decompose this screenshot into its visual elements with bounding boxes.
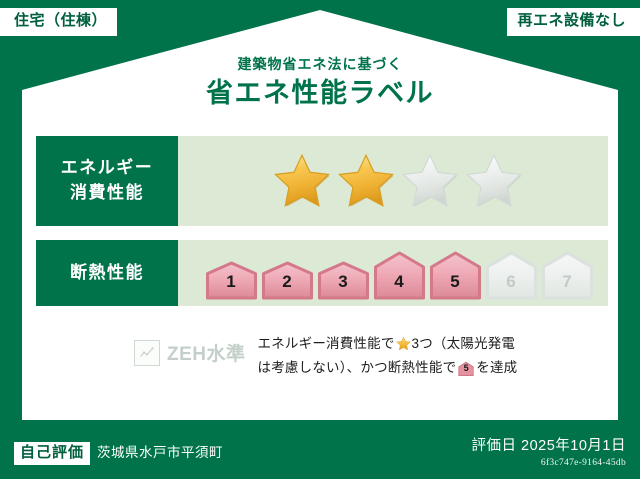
self-evaluation-chip: 自己評価 xyxy=(14,442,90,466)
star-icon-empty xyxy=(463,151,525,211)
house-shape-icon xyxy=(485,250,538,300)
insulation-level-2: 2 xyxy=(261,260,314,300)
star-icon-filled xyxy=(271,151,333,211)
label-id: 6f3c747e-9164-45db xyxy=(472,458,626,468)
title-main: 省エネ性能ラベル xyxy=(0,76,640,111)
address-text: 茨城県水戸市平須町 xyxy=(97,441,223,461)
insulation-performance-label: 断熱性能 xyxy=(36,240,178,306)
description-line1-b: 3つ（太陽光発電 xyxy=(412,336,516,351)
footer-right: 評価日 2025年10月1日 6f3c747e-9164-45db xyxy=(472,434,626,468)
insulation-level-7: 7 xyxy=(541,250,594,300)
zeh-badge: ZEH水準 xyxy=(134,339,246,366)
insulation-level-5: 5 xyxy=(429,250,482,300)
renewable-energy-chip: 再エネ設備なし xyxy=(507,8,640,36)
house-shape-icon xyxy=(205,260,258,300)
title-subtitle: 建築物省エネ法に基づく xyxy=(0,56,640,73)
insulation-level-1: 1 xyxy=(205,260,258,300)
achievement-description: エネルギー消費性能で3つ（太陽光発電 は考慮しない）、かつ断熱性能で5を達成 xyxy=(258,332,608,383)
inline-insulation-level-value: 5 xyxy=(458,361,474,377)
title-block: 建築物省エネ法に基づく 省エネ性能ラベル xyxy=(0,56,640,111)
description-line2-a: は考慮しない）、かつ断熱性能で xyxy=(258,360,457,375)
energy-label-line1: エネルギー xyxy=(61,156,154,181)
star-icon-empty xyxy=(399,151,461,211)
house-shape-icon xyxy=(541,250,594,300)
insulation-level-3: 3 xyxy=(317,260,370,300)
energy-performance-value xyxy=(178,136,608,226)
description-line1-a: エネルギー消費性能で xyxy=(258,336,395,351)
insulation-label-line1: 断熱性能 xyxy=(70,261,144,286)
zeh-section: ZEH水準 エネルギー消費性能で3つ（太陽光発電 は考慮しない）、かつ断熱性能で… xyxy=(36,332,608,383)
energy-label-line2: 消費性能 xyxy=(70,181,144,206)
energy-performance-label: 住宅（住棟） 再エネ設備なし 建築物省エネ法に基づく 省エネ性能ラベル エネルギ… xyxy=(0,0,640,479)
insulation-level-4: 4 xyxy=(373,250,426,300)
energy-performance-row: エネルギー 消費性能 xyxy=(36,136,608,226)
energy-performance-label: エネルギー 消費性能 xyxy=(36,136,178,226)
inline-insulation-house-icon: 5 xyxy=(458,360,474,384)
star-icon xyxy=(396,336,411,351)
insulation-performance-value: 1234567 xyxy=(178,240,608,306)
house-shape-icon xyxy=(373,250,426,300)
insulation-performance-row: 断熱性能 1234567 xyxy=(36,240,608,306)
footer-left: 自己評価 茨城県水戸市平須町 xyxy=(14,441,223,466)
evaluation-date-value: 2025年10月1日 xyxy=(521,438,626,454)
house-shape-icon xyxy=(261,260,314,300)
star-rating xyxy=(271,151,525,211)
star-icon-filled xyxy=(335,151,397,211)
dwelling-type-chip: 住宅（住棟） xyxy=(0,8,117,36)
zeh-badge-label: ZEH水準 xyxy=(167,339,246,366)
description-line2-b: を達成 xyxy=(476,360,517,375)
insulation-level-scale: 1234567 xyxy=(205,240,594,306)
house-shape-icon xyxy=(317,260,370,300)
evaluation-date-label: 評価日 xyxy=(472,438,517,454)
evaluation-date: 評価日 2025年10月1日 xyxy=(472,434,626,455)
zeh-chart-icon xyxy=(134,340,160,366)
insulation-level-6: 6 xyxy=(485,250,538,300)
house-shape-icon xyxy=(429,250,482,300)
